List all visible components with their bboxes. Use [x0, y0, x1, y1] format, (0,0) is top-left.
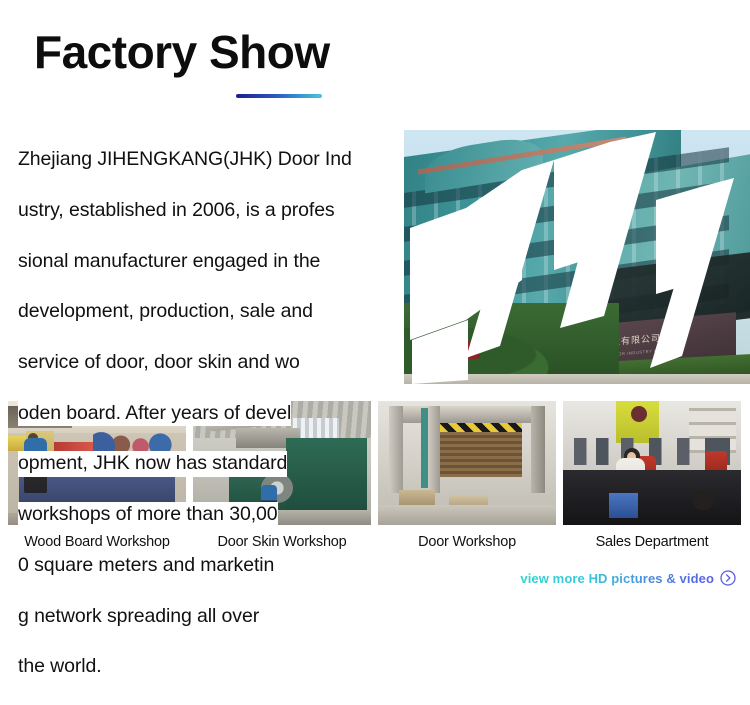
thumb-press-column	[428, 406, 440, 493]
view-more-label: view more HD pictures & video	[520, 571, 714, 586]
intro-line: workshops of more than 30,00	[18, 502, 278, 527]
intro-line: opment, JHK now has standard	[18, 451, 287, 476]
thumb-image[interactable]	[563, 401, 741, 525]
intro-line: sional manufacturer engaged in the	[18, 249, 320, 274]
thumb-sales-department[interactable]: Sales Department	[563, 401, 741, 550]
thumb-wall-emblem	[631, 406, 647, 422]
thumb-blue-crate	[609, 493, 637, 518]
title-accent-bar	[236, 94, 322, 98]
intro-line: service of door, door skin and wo	[18, 350, 300, 375]
thumb-employee-head	[693, 490, 713, 510]
hero-factory-image: 浙江基恒康门业有限公司 ZHEJIANG JIHENGKANG DOOR IND…	[404, 130, 750, 384]
chevron-right-circle-icon[interactable]	[720, 570, 736, 586]
page-title: Factory Show	[34, 28, 330, 76]
intro-line: 0 square meters and marketin	[18, 553, 274, 578]
intro-line: g network spreading all over	[18, 604, 259, 629]
intro-line: Zhejiang JIHENGKANG(JHK) Door Ind	[18, 147, 352, 172]
hero-ground	[404, 374, 750, 384]
thumb-hazard-stripe	[440, 423, 522, 432]
view-more-link[interactable]: view more HD pictures & video	[520, 570, 736, 586]
thumb-door-stack	[440, 432, 522, 477]
intro-paragraph: Zhejiang JIHENGKANG(JHK) Door Ind ustry,…	[18, 122, 418, 705]
intro-line: ustry, established in 2006, is a profes	[18, 198, 335, 223]
intro-line: oden board. After years of devel	[18, 401, 291, 426]
intro-line: development, production, sale and	[18, 299, 313, 324]
thumb-press-column	[531, 406, 545, 493]
thumb-cubicle-partitions	[563, 470, 741, 525]
intro-line: the world.	[18, 654, 102, 679]
thumb-caption: Sales Department	[563, 534, 741, 550]
